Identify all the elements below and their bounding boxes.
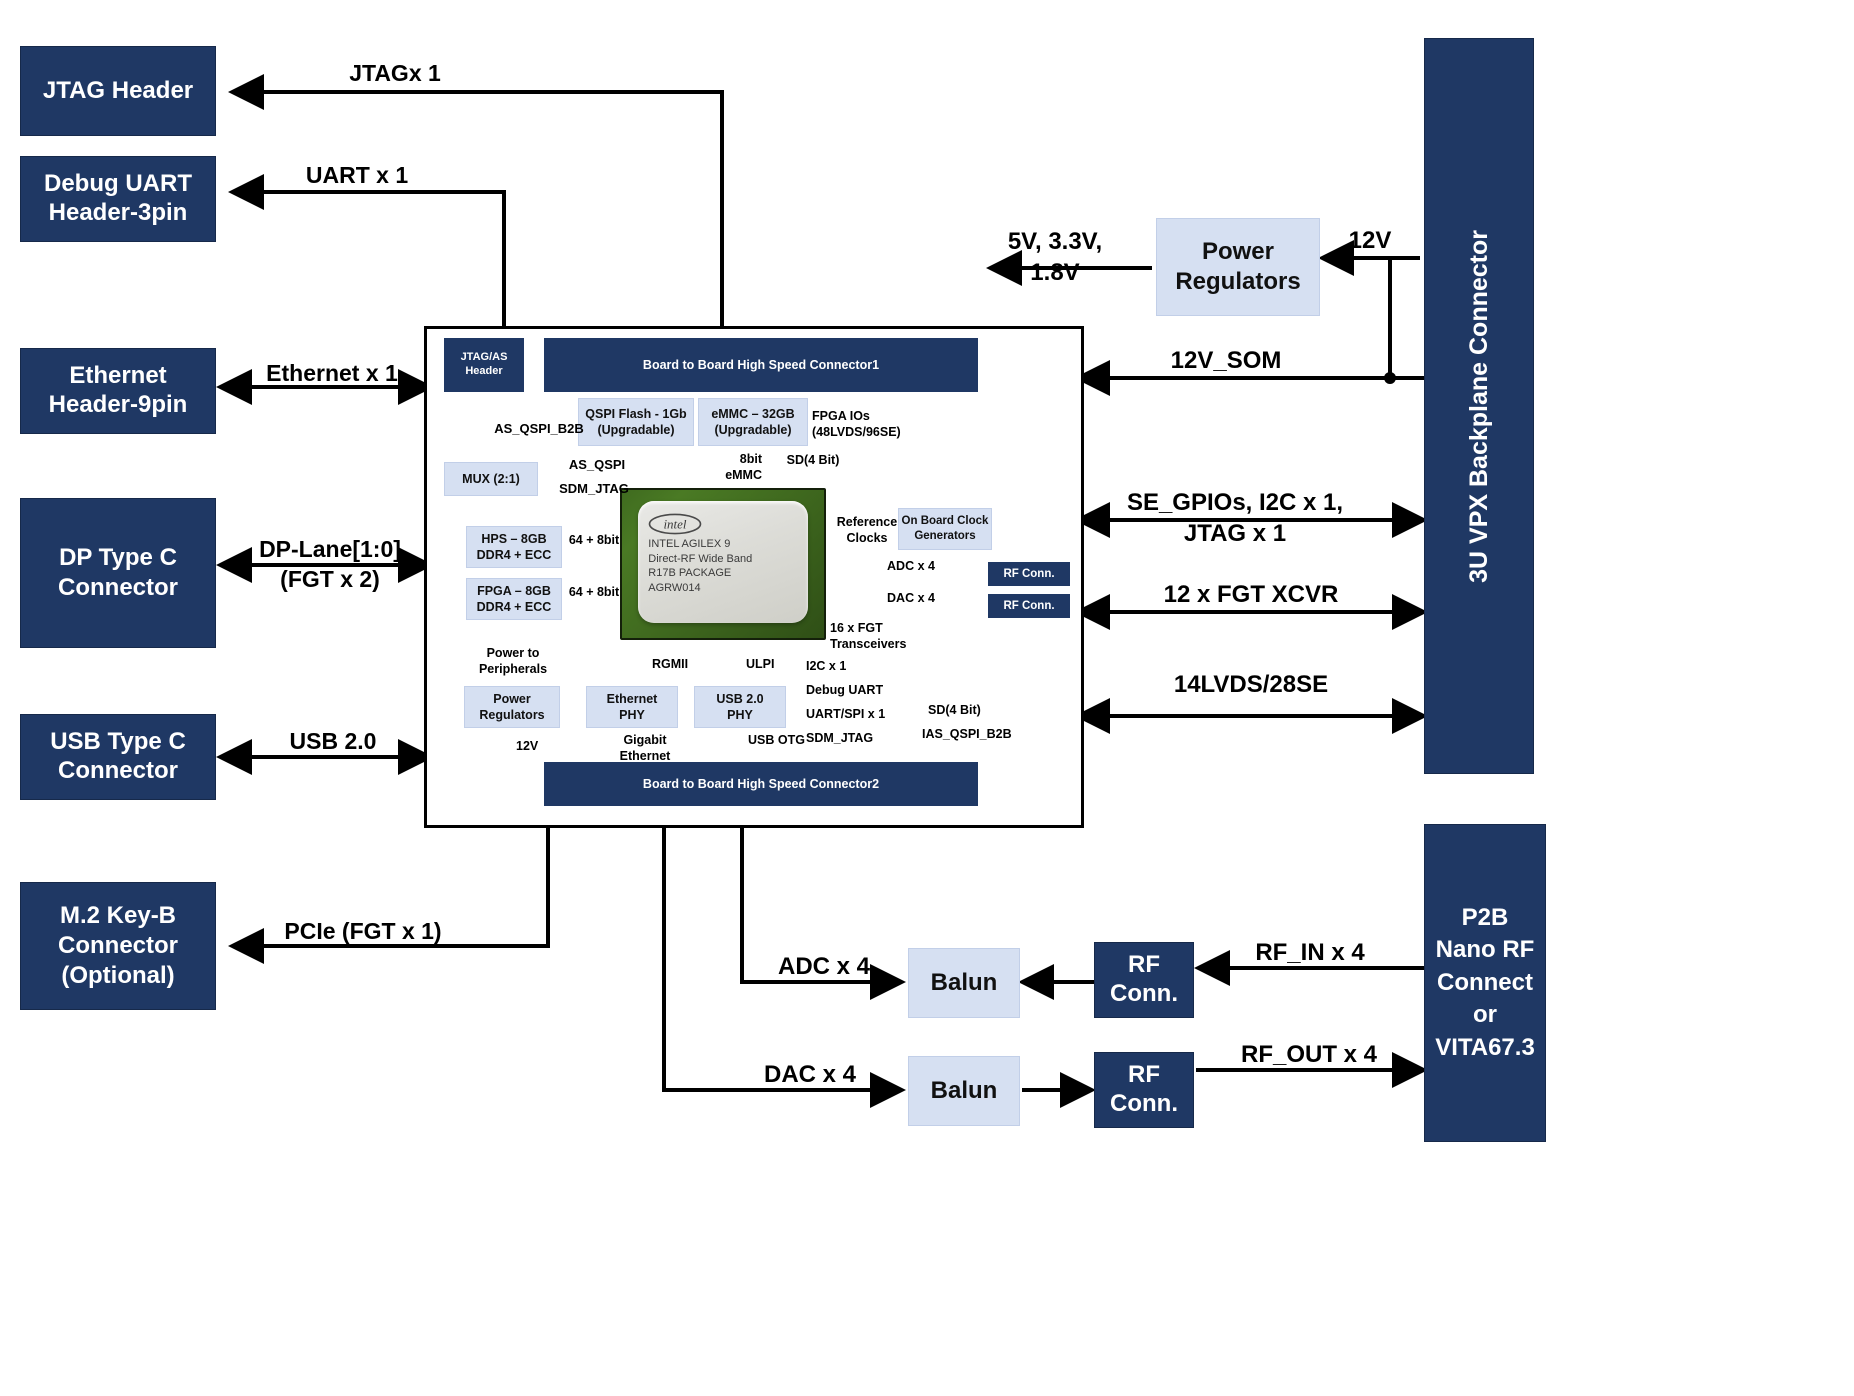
connector-vpx-backplane[interactable]: 3U VPX Backplane Connector [1424, 38, 1534, 774]
label-sd-4bit: SD(4 Bit) [776, 450, 850, 470]
label-i2c-x1-text: I2C x 1 [806, 659, 846, 673]
label-ulpi: ULPI [746, 654, 794, 674]
connector-jtag-header[interactable]: JTAG Header [20, 46, 216, 136]
chip-line-1: INTEL AGILEX 9 [648, 537, 752, 552]
connector-p2b-nano-rf[interactable]: P2B Nano RF Connect or VITA67.3 [1424, 824, 1546, 1142]
fpga-ddr4-label: FPGA – 8GB DDR4 + ECC [477, 583, 552, 616]
connector-dp-type-c[interactable]: DP Type C Connector [20, 498, 216, 648]
label-12v-in: 12V [516, 736, 556, 756]
label-fgt-transceivers: 16 x FGT Transceivers [830, 618, 916, 654]
label-as-qspi-b2b: AS_QSPI_B2B [484, 418, 594, 438]
label-rf-out-text: RF_OUT x 4 [1241, 1041, 1377, 1069]
link-label-ethernet-x1-text: Ethernet x 1 [266, 360, 398, 387]
label-hps-bus: 64 + 8bit [562, 530, 626, 550]
board-to-board-connector1-label: Board to Board High Speed Connector1 [643, 358, 879, 372]
board-to-board-connector2[interactable]: Board to Board High Speed Connector2 [544, 762, 978, 806]
qspi-flash-label: QSPI Flash - 1Gb (Upgradable) [585, 406, 686, 439]
label-8bit-emmc-text: 8bit eMMC [725, 452, 762, 483]
usb-phy-block[interactable]: USB 2.0 PHY [694, 686, 786, 728]
link-label-jtag-x1: JTAGx 1 [300, 58, 490, 88]
board-to-board-connector1[interactable]: Board to Board High Speed Connector1 [544, 338, 978, 392]
link-label-usb20-text: USB 2.0 [290, 728, 377, 755]
onboard-clock-generators-label: On Board Clock Generators [902, 514, 989, 544]
power-regulators-label: Power Regulators [1175, 237, 1300, 297]
connector-m2-key-b-label: M.2 Key-B Connector (Optional) [58, 901, 178, 991]
rf-conn-bottom-label: RF Conn. [1110, 1061, 1178, 1119]
link-label-lvds-se-text: 14LVDS/28SE [1174, 671, 1328, 699]
label-adc-x4-bottom: ADC x 4 [754, 952, 894, 982]
label-as-qspi: AS_QSPI [552, 454, 642, 474]
emmc-block[interactable]: eMMC – 32GB (Upgradable) [698, 398, 808, 446]
label-i2c-x1: I2C x 1 [806, 656, 876, 676]
label-gigabit-ethernet-text: Gigabit Ethernet [620, 732, 671, 765]
label-reference-clocks: Reference Clocks [832, 512, 902, 548]
label-adc-x4-inner: ADC x 4 [876, 556, 946, 576]
connector-dp-type-c-label: DP Type C Connector [58, 543, 178, 603]
chip-line-2: Direct-RF Wide Band [648, 552, 752, 567]
qspi-flash-block[interactable]: QSPI Flash - 1Gb (Upgradable) [578, 398, 694, 446]
link-label-ethernet-x1: Ethernet x 1 [232, 358, 432, 388]
onboard-power-regulators-block[interactable]: Power Regulators [464, 686, 560, 728]
connector-debug-uart-header[interactable]: Debug UART Header-3pin [20, 156, 216, 242]
connector-debug-uart-header-label: Debug UART Header-3pin [44, 170, 192, 228]
label-adc-x4-inner-text: ADC x 4 [887, 559, 935, 573]
jtag-as-header-block[interactable]: JTAG/AS Header [444, 338, 524, 392]
power-regulators-block[interactable]: Power Regulators [1156, 218, 1320, 316]
connector-usb-type-c[interactable]: USB Type C Connector [20, 714, 216, 800]
link-label-12v-som-text: 12V_SOM [1171, 347, 1282, 375]
svg-text:intel: intel [664, 517, 687, 532]
link-label-dp-lane: DP-Lane[1:0] (FGT x 2) [230, 530, 430, 600]
label-rf-in-text: RF_IN x 4 [1255, 939, 1364, 967]
onboard-clock-generators-block[interactable]: On Board Clock Generators [898, 508, 992, 550]
link-label-uart-x1-text: UART x 1 [306, 162, 408, 189]
link-label-pcie-fgt-text: PCIe (FGT x 1) [284, 918, 441, 945]
rf-conn-adc-label: RF Conn. [1003, 568, 1054, 580]
link-label-dp-lane-text: DP-Lane[1:0] (FGT x 2) [259, 535, 401, 595]
link-label-pcie-fgt: PCIe (FGT x 1) [248, 916, 478, 946]
link-label-fgt-xcvr: 12 x FGT XCVR [1106, 580, 1396, 610]
rf-conn-bottom-block[interactable]: RF Conn. [1094, 1052, 1194, 1128]
connector-ethernet-header-label: Ethernet Header-9pin [49, 362, 188, 420]
label-sd-4bit-text: SD(4 Bit) [787, 453, 840, 467]
link-label-usb20: USB 2.0 [238, 726, 428, 756]
label-uart-spi-text: UART/SPI x 1 [806, 707, 885, 721]
mux-block[interactable]: MUX (2:1) [444, 462, 538, 496]
connector-jtag-header-label: JTAG Header [43, 77, 193, 105]
onboard-power-regulators-label: Power Regulators [479, 691, 544, 724]
connector-m2-key-b[interactable]: M.2 Key-B Connector (Optional) [20, 882, 216, 1010]
label-dac-x4-bottom: DAC x 4 [730, 1060, 890, 1090]
link-label-uart-x1: UART x 1 [262, 160, 452, 190]
chip-part-text: INTEL AGILEX 9 Direct-RF Wide Band R17B … [648, 537, 752, 596]
label-debug-uart-text: Debug UART [806, 683, 883, 697]
link-label-12v-som: 12V_SOM [1096, 346, 1356, 376]
label-12v-input: 12V [1330, 226, 1410, 256]
label-hps-bus-text: 64 + 8bit [569, 533, 619, 547]
ethernet-phy-label: Ethernet PHY [607, 691, 658, 724]
link-label-fgt-xcvr-text: 12 x FGT XCVR [1164, 581, 1339, 609]
rf-conn-adc-block[interactable]: RF Conn. [988, 562, 1070, 586]
label-fgt-transceivers-text: 16 x FGT Transceivers [830, 620, 906, 653]
balun-bottom-block[interactable]: Balun [908, 1056, 1020, 1126]
rf-conn-dac-label: RF Conn. [1003, 600, 1054, 612]
label-ias-qspi-b2b: IAS_QSPI_B2B [922, 724, 1028, 744]
balun-top-block[interactable]: Balun [908, 948, 1020, 1018]
connector-p2b-nano-rf-label: P2B Nano RF Connect or VITA67.3 [1435, 902, 1535, 1064]
label-fpga-ios-text: FPGA IOs (48LVDS/96SE) [812, 408, 901, 441]
link-label-se-gpios: SE_GPIOs, I2C x 1, JTAG x 1 [1090, 482, 1380, 554]
label-rgmii: RGMII [652, 654, 706, 674]
ethernet-phy-block[interactable]: Ethernet PHY [586, 686, 678, 728]
chip-line-4: AGRW014 [648, 581, 752, 596]
rf-conn-dac-block[interactable]: RF Conn. [988, 594, 1070, 618]
intel-logo-icon: intel [648, 513, 702, 535]
label-ulpi-text: ULPI [746, 657, 774, 671]
label-fpga-bus-text: 64 + 8bit [569, 585, 619, 599]
link-label-jtag-x1-text: JTAGx 1 [349, 60, 441, 87]
board-to-board-connector2-label: Board to Board High Speed Connector2 [643, 777, 879, 791]
label-sdm-jtag: SDM_JTAG [546, 478, 642, 498]
connector-ethernet-header[interactable]: Ethernet Header-9pin [20, 348, 216, 434]
label-uart-spi: UART/SPI x 1 [806, 704, 906, 724]
label-sdm-jtag-2: SDM_JTAG [806, 728, 896, 748]
label-ias-qspi-b2b-text: IAS_QSPI_B2B [922, 727, 1012, 741]
connector-vpx-backplane-label: 3U VPX Backplane Connector [1465, 230, 1494, 583]
label-sd-4bit-2: SD(4 Bit) [928, 700, 1008, 720]
intel-agilex-fpga-chip[interactable]: intel INTEL AGILEX 9 Direct-RF Wide Band… [620, 488, 822, 636]
fpga-ddr4-block[interactable]: FPGA – 8GB DDR4 + ECC [466, 578, 562, 620]
balun-top-label: Balun [931, 969, 998, 997]
label-power-to-peripherals: Power to Peripherals [462, 642, 564, 680]
label-dac-x4-bottom-text: DAC x 4 [764, 1061, 856, 1089]
rf-conn-top-label: RF Conn. [1110, 951, 1178, 1009]
label-8bit-emmc: 8bit eMMC [690, 450, 762, 486]
emmc-label: eMMC – 32GB (Upgradable) [711, 406, 794, 439]
usb-phy-label: USB 2.0 PHY [716, 691, 763, 724]
mux-block-label: MUX (2:1) [462, 472, 520, 486]
jtag-as-header-label: JTAG/AS Header [461, 351, 508, 379]
label-as-qspi-text: AS_QSPI [569, 457, 625, 472]
label-sd-4bit-2-text: SD(4 Bit) [928, 703, 981, 717]
label-power-rails-text: 5V, 3.3V, 1.8V [1008, 226, 1102, 288]
label-power-rails: 5V, 3.3V, 1.8V [960, 222, 1150, 292]
label-12v-in-text: 12V [516, 739, 538, 753]
block-diagram-canvas: JTAG Header Debug UART Header-3pin Ether… [0, 0, 1854, 1396]
label-rf-out: RF_OUT x 4 [1204, 1040, 1414, 1070]
label-debug-uart: Debug UART [806, 680, 896, 700]
connector-usb-type-c-label: USB Type C Connector [50, 728, 186, 786]
link-label-se-gpios-text: SE_GPIOs, I2C x 1, JTAG x 1 [1127, 487, 1343, 549]
label-sdm-jtag-2-text: SDM_JTAG [806, 731, 873, 745]
label-power-to-peripherals-text: Power to Peripherals [479, 645, 547, 678]
label-12v-input-text: 12V [1349, 227, 1392, 255]
label-fpga-ios: FPGA IOs (48LVDS/96SE) [812, 406, 912, 442]
rf-conn-top-block[interactable]: RF Conn. [1094, 942, 1194, 1018]
label-rf-in: RF_IN x 4 [1210, 938, 1410, 968]
link-label-lvds-se: 14LVDS/28SE [1106, 670, 1396, 700]
label-reference-clocks-text: Reference Clocks [837, 514, 897, 547]
hps-ddr4-block[interactable]: HPS – 8GB DDR4 + ECC [466, 526, 562, 568]
label-dac-x4-inner: DAC x 4 [876, 588, 946, 608]
chip-line-3: R17B PACKAGE [648, 566, 752, 581]
label-sdm-jtag-text: SDM_JTAG [559, 481, 629, 496]
label-rgmii-text: RGMII [652, 657, 688, 671]
label-gigabit-ethernet: Gigabit Ethernet [600, 730, 690, 766]
balun-bottom-label: Balun [931, 1077, 998, 1105]
hps-ddr4-label: HPS – 8GB DDR4 + ECC [477, 531, 552, 564]
label-usb-otg-text: USB OTG [748, 733, 805, 747]
label-dac-x4-inner-text: DAC x 4 [887, 591, 935, 605]
label-adc-x4-bottom-text: ADC x 4 [778, 953, 870, 981]
label-fpga-bus: 64 + 8bit [562, 582, 626, 602]
label-as-qspi-b2b-text: AS_QSPI_B2B [494, 421, 584, 436]
